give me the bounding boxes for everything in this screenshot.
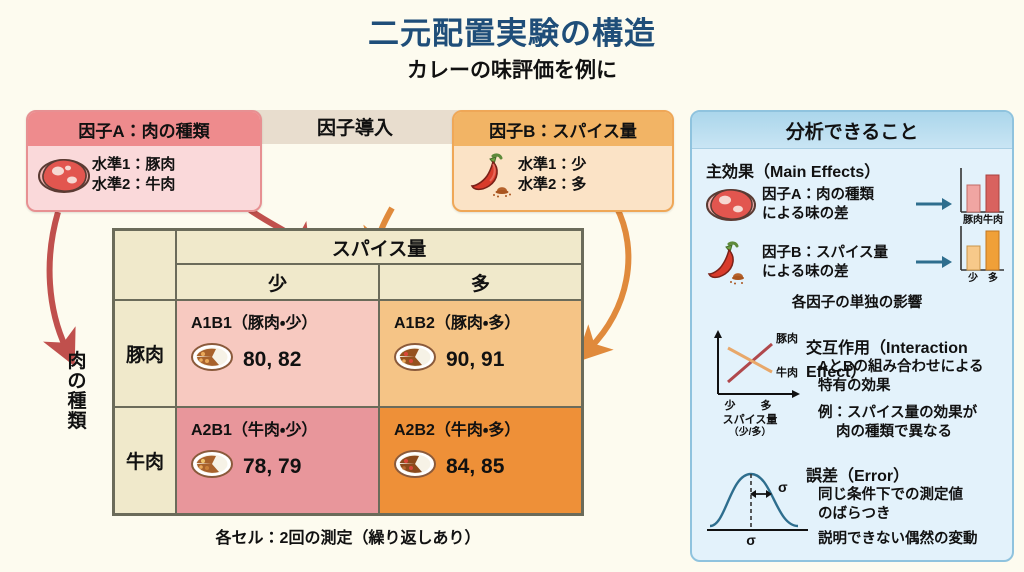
infographic-root: 二元配置実験の構造 カレーの味評価を例に 因子導入 因子A：肉の種類 (0, 0, 1024, 572)
svg-text:σ: σ (746, 532, 756, 546)
row-axis-label: 肉 の 種 類 (62, 352, 92, 433)
curry-plate-icon (191, 343, 233, 376)
factor-b-level-2: 水準2：多 (518, 175, 586, 195)
steak-icon (704, 184, 758, 226)
table-column-header-low: 少 (176, 264, 379, 300)
cell-values-a1b2: 90, 91 (446, 348, 504, 372)
interaction-body: AとBの組み合わせによる 特有の効果 (818, 358, 984, 396)
main-effect-b-text: 因子B：スパイス量 による味の差 (762, 244, 888, 282)
factor-b-box[interactable]: 因子B：スパイス量 水準1：少 水準2：多 (452, 110, 674, 212)
svg-text:スパイス量: スパイス量 (723, 413, 778, 426)
interaction-line-2: 特有の効果 (818, 377, 984, 396)
table-cell-a1b2[interactable]: A1B2（豚肉・多） 90, 91 (379, 300, 582, 407)
table-cell-a1b1[interactable]: A1B1（豚肉・少） 80, 82 (176, 300, 379, 407)
main-effect-a-line2: による味の差 (762, 205, 874, 224)
cell-code-a1b1: A1B1（豚肉・少） (177, 309, 378, 333)
main-effect-a-bar-chart: 豚肉 牛肉 (956, 164, 1006, 226)
chili-pepper-icon (704, 240, 758, 286)
cell-values-a1b1: 80, 82 (243, 348, 301, 372)
cell-code-a2b2: A2B2（牛肉・多） (380, 416, 581, 440)
table-row-header-pork: 豚肉 (114, 300, 176, 407)
svg-text:（少/多）: （少/多） (729, 425, 772, 436)
arrow-factor-b-to-table (590, 206, 628, 348)
factor-introduction-label: 因子導入 (240, 113, 470, 140)
table-column-header-high: 多 (379, 264, 582, 300)
curry-plate-icon (394, 343, 436, 376)
row-axis-char-1: 肉 (62, 352, 92, 372)
table-cell-a2b1[interactable]: A2B1（牛肉・少） 78, 79 (176, 407, 379, 514)
factor-a-box[interactable]: 因子A：肉の種類 水準1：豚肉 水準2：牛肉 (26, 110, 262, 212)
factor-a-levels: 水準1：豚肉 水準2：牛肉 (92, 155, 175, 196)
main-effect-b-bar-chart: 少 多 (956, 222, 1006, 284)
error-line-1: 同じ条件下での測定値 (818, 486, 963, 505)
error-body: 同じ条件下での測定値 のばらつき (818, 486, 963, 524)
interaction-line-3: 例：スパイス量の効果が (818, 404, 977, 423)
svg-text:多: 多 (761, 398, 772, 412)
row-axis-char-2: の (62, 372, 92, 392)
main-effect-a-line1: 因子A：肉の種類 (762, 186, 874, 205)
cell-code-a1b2: A1B2（豚肉・多） (380, 309, 581, 333)
page-subtitle: カレーの味評価を例に (0, 54, 1024, 84)
row-axis-char-4: 類 (62, 412, 92, 432)
table-footnote: 各セル：2回の測定（繰り返しあり） (112, 524, 584, 548)
row-axis-char-3: 種 (62, 392, 92, 412)
svg-text:少: 少 (725, 398, 736, 412)
svg-text:σ: σ (778, 479, 788, 495)
factor-b-level-1: 水準1：少 (518, 155, 586, 175)
factor-b-heading: 因子B：スパイス量 (454, 112, 672, 146)
cell-values-a2b2: 84, 85 (446, 455, 504, 479)
arrow-right-icon (916, 254, 952, 270)
interaction-plot: 豚肉 牛肉 少 多 スパイス量 （少/多） (700, 326, 810, 436)
curry-plate-icon (394, 450, 436, 483)
factor-a-level-2: 水準2：牛肉 (92, 175, 175, 195)
cell-values-a2b1: 78, 79 (243, 455, 301, 479)
main-effects-heading: 主効果（Main Effects） (706, 158, 880, 182)
arrow-right-icon (916, 196, 952, 212)
curry-plate-icon (191, 450, 233, 483)
interaction-example: 例：スパイス量の効果が 肉の種類で異なる (818, 404, 977, 442)
svg-text:牛肉: 牛肉 (776, 365, 798, 379)
analysis-panel-title: 分析できること (692, 112, 1012, 149)
table-cell-a2b2[interactable]: A2B2（牛肉・多） 84, 85 (379, 407, 582, 514)
table-column-group-header: スパイス量 (176, 230, 582, 264)
factor-a-heading: 因子A：肉の種類 (28, 112, 260, 146)
main-effect-b-line2: による味の差 (762, 263, 888, 282)
analysis-panel: 分析できること 主効果（Main Effects） 因子A：肉の種類 による味の… (690, 110, 1014, 562)
experiment-design-table: スパイス量 少 多 豚肉 牛肉 A1B1（豚肉・少） (112, 228, 584, 516)
steak-icon (36, 150, 92, 200)
page-title: 二元配置実験の構造 (0, 8, 1024, 53)
error-line-2: のばらつき (818, 505, 963, 524)
cell-code-a2b1: A2B1（牛肉・少） (177, 416, 378, 440)
error-line-3: 説明できない偶然の変動 (818, 530, 978, 549)
factor-b-levels: 水準1：少 水準2：多 (518, 155, 586, 196)
table-row-header-beef: 牛肉 (114, 407, 176, 514)
table-corner-cell (114, 230, 176, 300)
svg-text:多: 多 (988, 271, 998, 284)
main-effect-b-line1: 因子B：スパイス量 (762, 244, 888, 263)
main-effects-footer: 各因子の単独の影響 (752, 294, 962, 313)
error-heading: 誤差（Error） (806, 462, 909, 486)
arrow-factor-a-to-rows (50, 212, 66, 348)
svg-text:豚肉: 豚肉 (776, 331, 798, 345)
chili-pepper-icon (462, 150, 518, 200)
error-normal-distribution-plot: σ σ (704, 460, 812, 546)
main-effect-a-text: 因子A：肉の種類 による味の差 (762, 186, 874, 224)
factor-a-level-1: 水準1：豚肉 (92, 155, 175, 175)
svg-text:少: 少 (968, 271, 978, 284)
interaction-line-1: AとBの組み合わせによる (818, 358, 984, 377)
interaction-line-4: 肉の種類で異なる (818, 423, 977, 442)
